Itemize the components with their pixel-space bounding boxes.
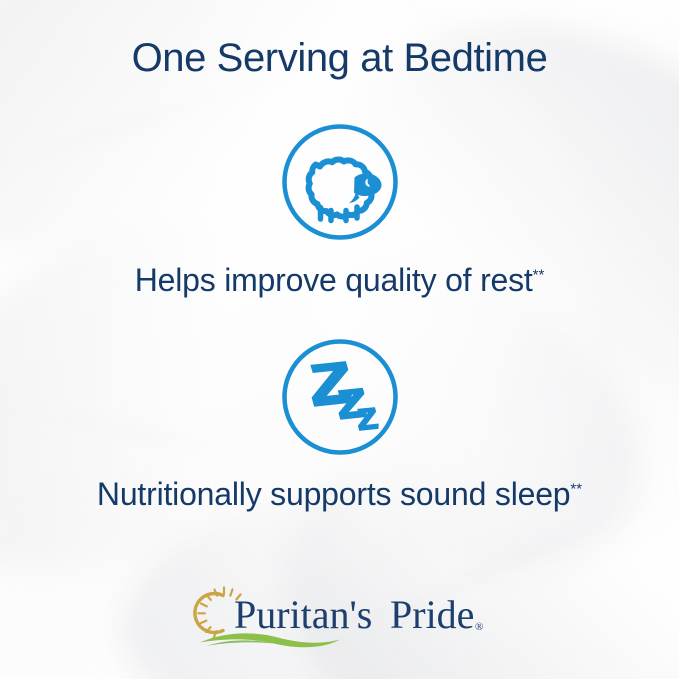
logo-word-2: Pride xyxy=(390,592,474,637)
product-benefit-poster: One Serving at Bedtime Helps improve qua… xyxy=(0,0,679,679)
benefit-footnote-2: ** xyxy=(570,480,582,497)
benefit-footnote-1: ** xyxy=(533,266,545,283)
logo-word-1: Puritan's xyxy=(234,592,372,637)
zzz-sleep-icon xyxy=(280,337,400,457)
page-title: One Serving at Bedtime xyxy=(0,36,679,81)
benefit-label-1: Helps improve quality of rest xyxy=(135,262,533,298)
benefit-label-2: Nutritionally supports sound sleep xyxy=(97,476,570,512)
sheep-icon xyxy=(280,122,400,242)
benefit-text-2: Nutritionally supports sound sleep** xyxy=(0,476,679,513)
registered-mark: ® xyxy=(475,621,483,633)
brand-logo: Puritan's Pride ® xyxy=(190,578,490,650)
benefit-text-1: Helps improve quality of rest** xyxy=(0,262,679,299)
